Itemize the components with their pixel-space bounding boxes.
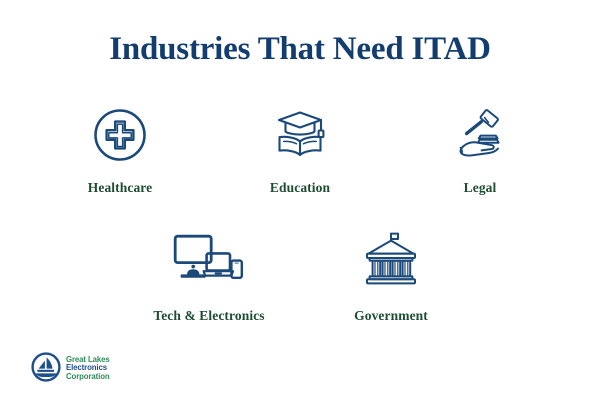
industry-label: Healthcare bbox=[88, 180, 152, 196]
government-building-icon bbox=[362, 228, 420, 290]
industry-item-tech-electronics[interactable]: Tech & Electronics bbox=[118, 228, 300, 324]
slide-canvas: Industries That Need ITAD Healthcare bbox=[0, 0, 600, 400]
industry-item-healthcare[interactable]: Healthcare bbox=[30, 104, 210, 196]
industry-item-education[interactable]: Education bbox=[210, 104, 390, 196]
industry-label: Education bbox=[270, 180, 330, 196]
industry-item-government[interactable]: Government bbox=[300, 228, 482, 324]
medical-cross-circle-icon bbox=[92, 104, 148, 166]
logo-line-corporation: Corporation bbox=[66, 372, 110, 381]
industry-label: Legal bbox=[464, 180, 497, 196]
industry-label: Government bbox=[354, 308, 428, 324]
company-logo-text: Great Lakes Electronics Corporation bbox=[66, 354, 113, 381]
great-lakes-sailboat-emblem-icon bbox=[31, 352, 61, 382]
page-title: Industries That Need ITAD bbox=[0, 30, 600, 70]
industry-row-top: Healthcare Educatio bbox=[0, 104, 600, 196]
monitor-laptop-phone-icon bbox=[173, 228, 245, 290]
industry-row-bottom: Tech & Electronics bbox=[0, 228, 600, 324]
company-logo[interactable]: Great Lakes Electronics Corporation bbox=[31, 352, 113, 382]
industry-label: Tech & Electronics bbox=[153, 308, 264, 324]
graduation-cap-book-icon bbox=[271, 104, 329, 166]
industry-item-legal[interactable]: Legal bbox=[390, 104, 570, 196]
gavel-hand-icon bbox=[451, 104, 509, 166]
